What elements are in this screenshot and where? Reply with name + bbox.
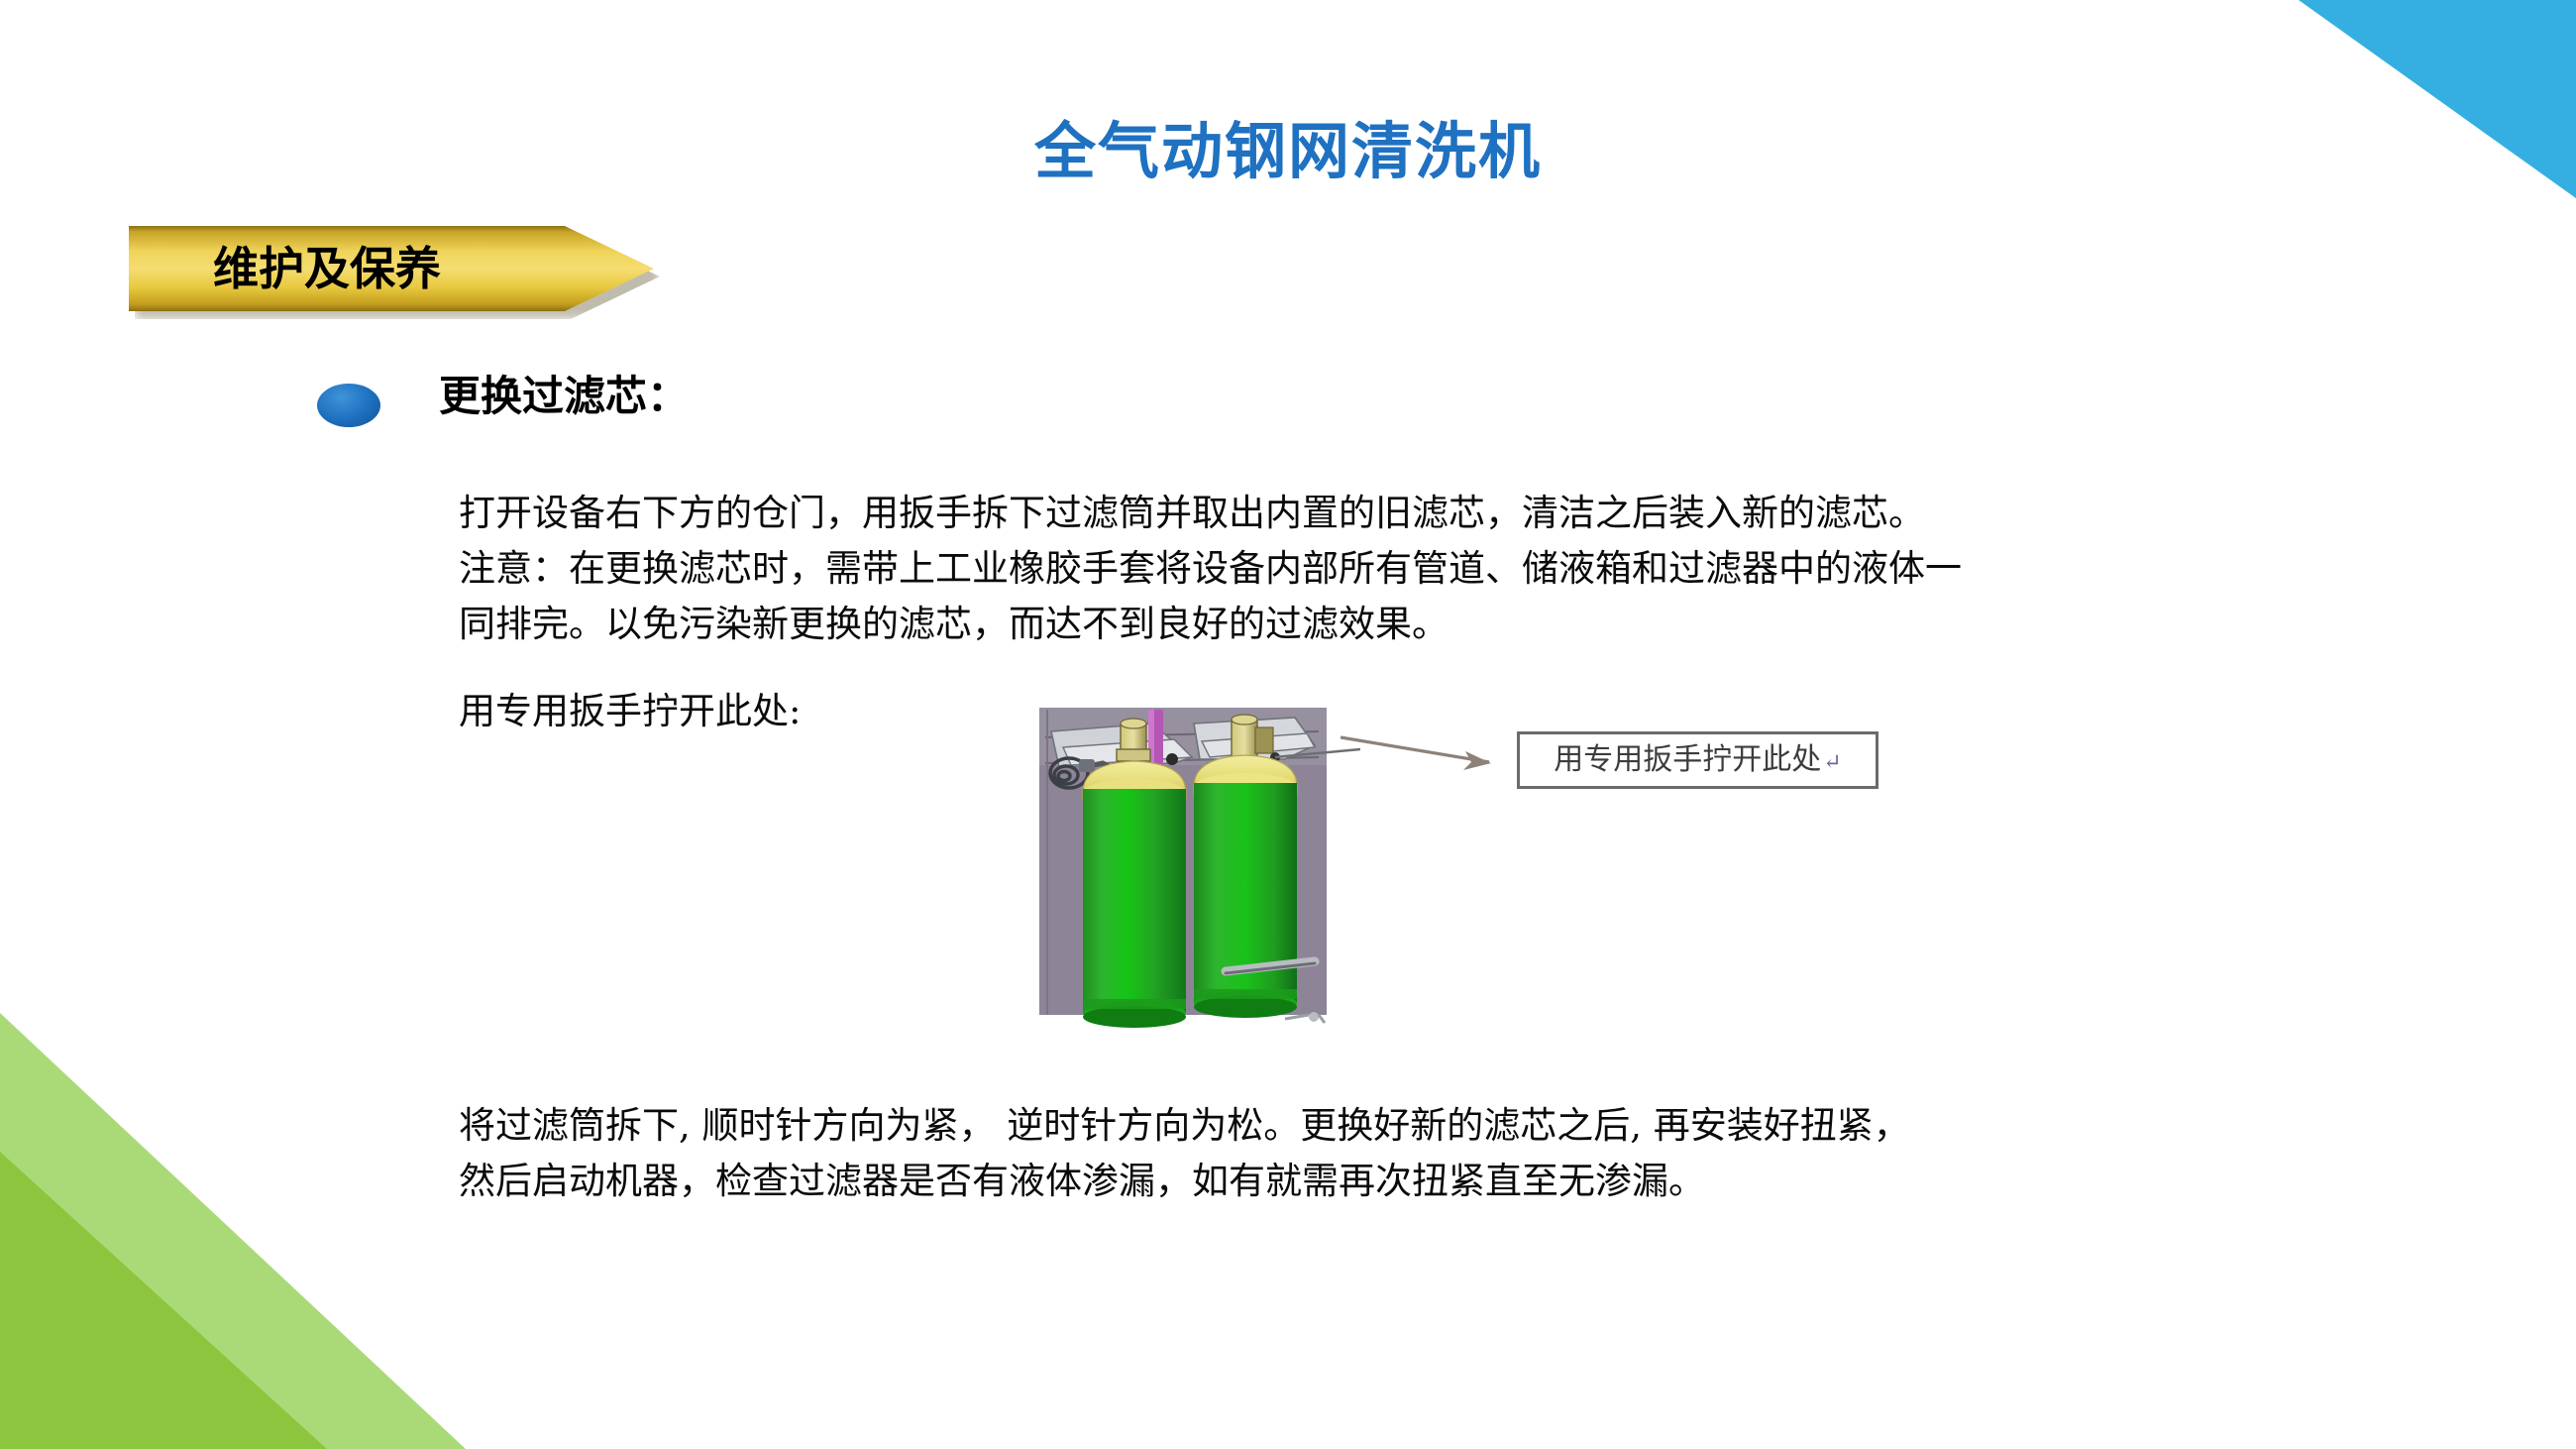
slide-canvas: 全气动钢网清洗机 维护及保养 更换过滤芯： 打开设备右下方的仓门，用扳手拆下过滤… (0, 0, 2576, 1449)
section-banner-arrow-shape: 维护及保养 (129, 226, 654, 311)
section-heading: 更换过滤芯： (439, 372, 689, 421)
arrow-icon (1341, 735, 1519, 775)
paragraph-line: 打开设备右下方的仓门，用扳手拆下过滤筒并取出内置的旧滤芯，清洁之后装入新的滤芯。 (459, 486, 2341, 541)
callout-box-text: 用专用扳手拧开此处↵ (1554, 745, 1841, 775)
paragraph-replace-filter-instructions: 打开设备右下方的仓门，用扳手拆下过滤筒并取出内置的旧滤芯，清洁之后装入新的滤芯。… (459, 486, 2341, 653)
filter-canister-illustration (1025, 702, 1360, 1070)
paragraph-wrench-caption: 用专用扳手拧开此处: (459, 684, 2341, 739)
callout-box: 用专用扳手拧开此处↵ (1517, 731, 1878, 789)
return-mark-icon: ↵ (1823, 750, 1841, 775)
section-banner: 维护及保养 (129, 226, 654, 311)
paragraph-line: 同排完。以免污染新更换的滤芯，而达不到良好的过滤效果。 (459, 597, 2341, 652)
paragraph-line: 然后启动机器，检查过滤器是否有液体渗漏，如有就需再次扭紧直至无渗漏。 (459, 1154, 2420, 1209)
filter-canister-photo (1025, 702, 1360, 1070)
paragraph-line: 将过滤筒拆下, 顺时针方向为紧， 逆时针方向为松。更换好新的滤芯之后, 再安装好… (459, 1098, 2420, 1154)
bullet-dot-icon (317, 384, 380, 427)
paragraph-reassembly-instructions: 将过滤筒拆下, 顺时针方向为紧， 逆时针方向为松。更换好新的滤芯之后, 再安装好… (459, 1098, 2420, 1209)
section-banner-label: 维护及保养 (213, 246, 441, 291)
paragraph-line: 用专用扳手拧开此处: (459, 684, 2341, 739)
paragraph-line: 注意：在更换滤芯时，需带上工业橡胶手套将设备内部所有管道、储液箱和过滤器中的液体… (459, 541, 2341, 597)
page-title: 全气动钢网清洗机 (0, 121, 2576, 182)
callout-leader-arrow (1341, 735, 1519, 775)
